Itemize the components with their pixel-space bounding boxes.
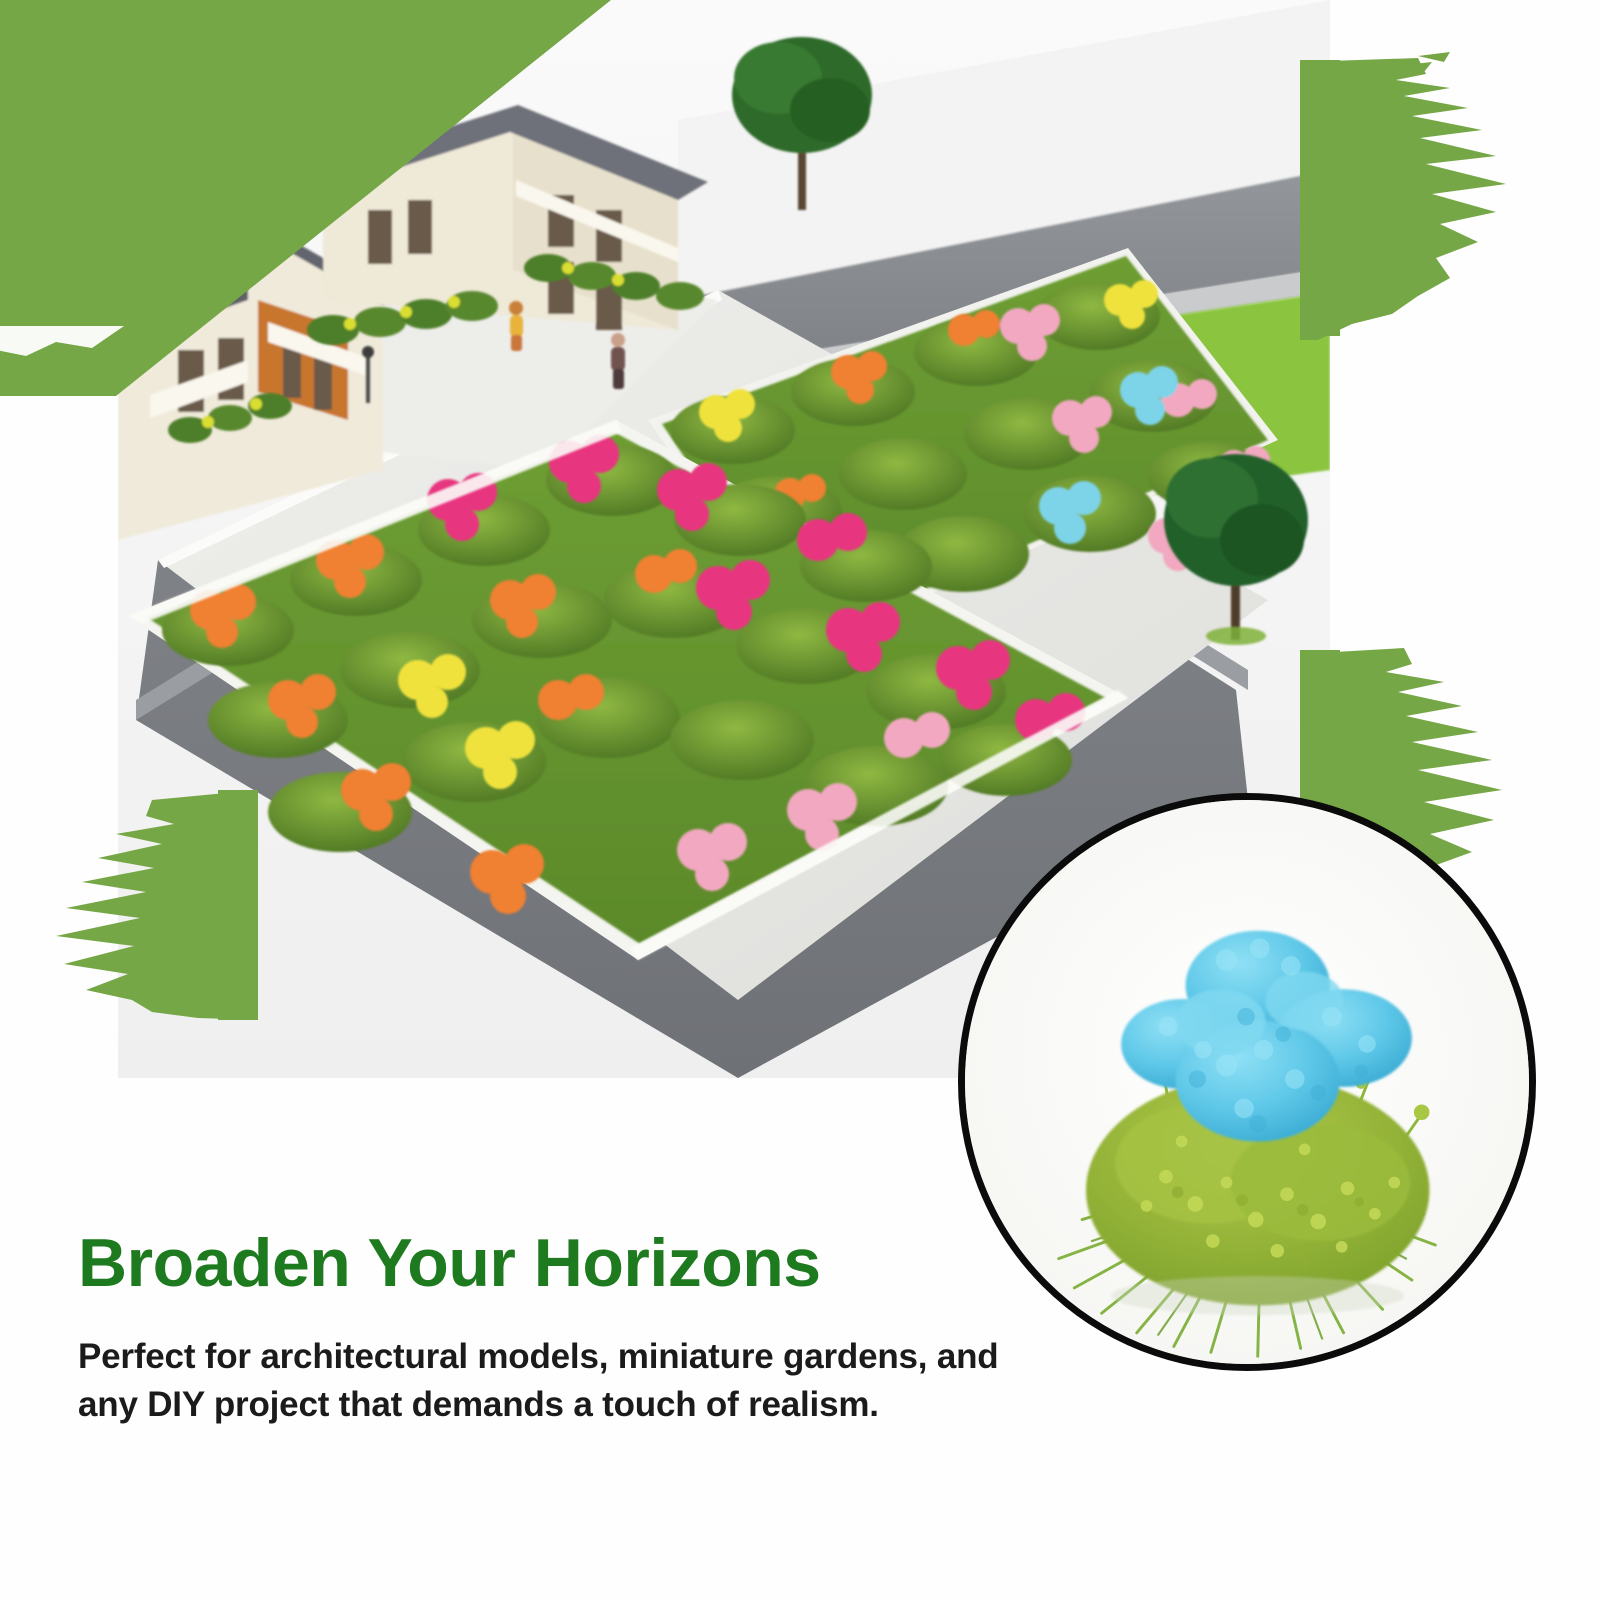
green-brush-stroke-right-upper	[1300, 52, 1600, 342]
product-closeup-inset	[958, 793, 1536, 1371]
product-description: Perfect for architectural models, miniat…	[78, 1333, 1038, 1430]
description-line-2: any DIY project that demands a touch of …	[78, 1381, 1038, 1429]
description-line-1: Perfect for architectural models, miniat…	[78, 1333, 1038, 1381]
green-corner-wedge	[0, 0, 616, 396]
green-brush-stroke-left	[28, 790, 258, 1020]
blue-flower-tuft-illustration	[965, 800, 1529, 1364]
page-title: Broaden Your Horizons	[78, 1228, 821, 1299]
poster-canvas: Broaden Your Horizons Perfect for archit…	[0, 0, 1600, 1600]
